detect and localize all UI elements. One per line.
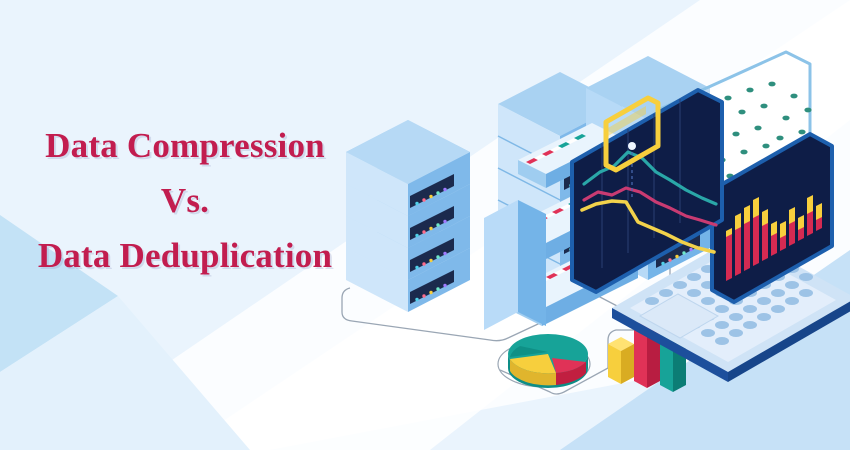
server-rack-middle [484, 200, 546, 330]
headline-line-2: Vs. [0, 183, 370, 220]
illustration-svg [340, 40, 850, 420]
headline-block: Data Compression Vs. Data Deduplication [0, 128, 370, 274]
headline-line-3: Data Deduplication [0, 238, 370, 275]
pie-chart-3d [498, 334, 590, 388]
isometric-illustration [340, 40, 850, 420]
headline-line-1: Data Compression [0, 128, 370, 165]
banner: Data Compression Vs. Data Deduplication [0, 0, 850, 450]
chart-marker-dot [628, 142, 636, 150]
bar-yellow [608, 337, 634, 384]
